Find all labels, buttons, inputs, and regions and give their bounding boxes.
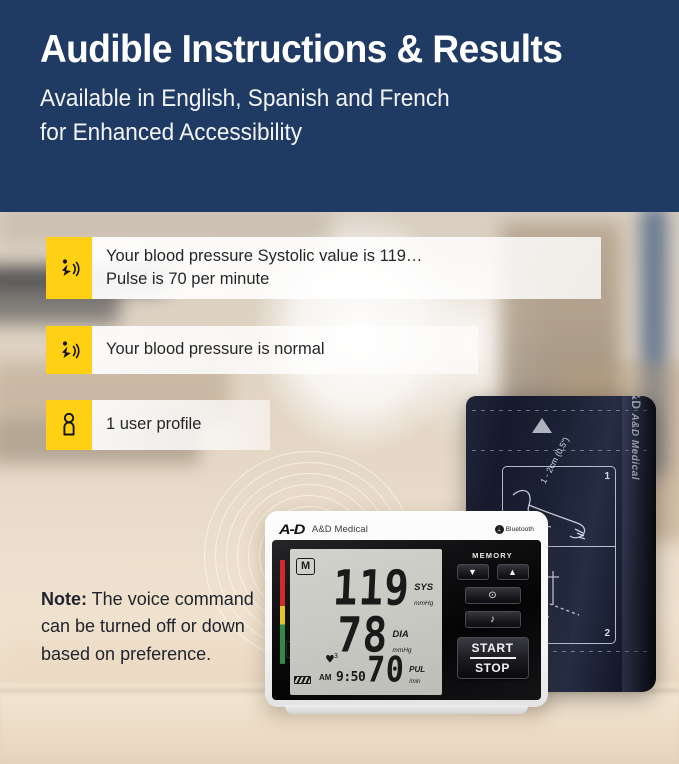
callout-3-line-1: 1 user profile <box>106 413 258 436</box>
user-profile-icon <box>46 400 92 450</box>
callout-1-line-1: Your blood pressure Systolic value is 11… <box>106 245 589 268</box>
clock-icon: ⊙ <box>488 590 496 601</box>
header-banner: Audible Instructions & Results Available… <box>0 0 679 212</box>
bluetooth-icon: ᛦ <box>495 525 504 534</box>
header-subtitle-line-2: for Enhanced Accessibility <box>40 117 641 149</box>
pulse-value: 70 <box>366 657 405 686</box>
clock-button[interactable]: ⊙ <box>465 587 521 604</box>
lcd-display: M 119 SYS mmHg 78 DIA mmHg <box>290 549 442 695</box>
page-title: Audible Instructions & Results <box>40 30 647 69</box>
memory-up-button[interactable]: ▲ <box>497 564 529 580</box>
device-button-panel: MEMORY ▼ ▲ ⊙ ♪ START STOP <box>450 540 541 700</box>
systolic-value: 119 <box>332 569 411 609</box>
pulse-label: PUL <box>409 666 425 674</box>
start-label: START <box>471 641 513 655</box>
bp-classification-bar <box>280 560 285 664</box>
voice-icon: ♪ <box>490 614 495 625</box>
systolic-unit: mmHg <box>414 601 433 608</box>
callout-badge-bp-normal: Your blood pressure is normal <box>46 326 478 374</box>
systolic-reading: 119 SYS mmHg <box>332 575 433 609</box>
battery-icon <box>294 676 311 684</box>
memory-indicator: M <box>296 558 315 575</box>
device-base <box>285 705 528 714</box>
callout-badge-user-profile: 1 user profile <box>46 400 270 450</box>
memory-label: MEMORY <box>454 551 531 560</box>
pulse-unit: /min <box>409 679 425 685</box>
and-logo: A‑D <box>279 521 304 537</box>
note-label: Note: <box>41 589 87 609</box>
voice-button[interactable]: ♪ <box>465 611 521 628</box>
diastolic-label: DIA <box>392 630 411 640</box>
callout-badge-voice-reading: Your blood pressure Systolic value is 11… <box>46 237 601 299</box>
bluetooth-label: Bluetooth <box>506 526 534 533</box>
speaking-head-icon <box>46 237 92 299</box>
artery-marker-triangle <box>532 418 552 433</box>
product-feature-image: Audible Instructions & Results Available… <box>0 0 679 764</box>
memory-down-button[interactable]: ▼ <box>457 564 489 580</box>
bluetooth-badge: ᛦ Bluetooth <box>495 525 534 534</box>
device-brand-bar: A‑D A&D Medical ᛦ Bluetooth <box>272 518 541 540</box>
speaking-head-icon <box>46 326 92 374</box>
start-stop-button[interactable]: START STOP <box>457 637 529 679</box>
pulse-reading: 70 PUL /min <box>366 661 425 686</box>
stop-label: STOP <box>475 661 510 675</box>
callout-2-line-1: Your blood pressure is normal <box>106 338 466 361</box>
device-front-panel: M 119 SYS mmHg 78 DIA mmHg <box>272 540 541 700</box>
lcd-time: 9:50 <box>336 670 365 685</box>
note-text: Note: The voice command can be turned of… <box>41 586 256 668</box>
heartbeat-icon: ♥3 <box>326 653 338 666</box>
systolic-label: SYS <box>414 583 433 593</box>
header-subtitle-line-1: Available in English, Spanish and French <box>40 83 641 115</box>
lcd-meridiem: AM <box>319 673 331 682</box>
heartbeat-count: 3 <box>334 652 338 660</box>
callout-1-line-2: Pulse is 70 per minute <box>106 268 589 291</box>
device-brand-name: A&D Medical <box>312 524 368 535</box>
blood-pressure-monitor: A‑D A&D Medical ᛦ Bluetooth M 119 SYS mm… <box>265 511 548 707</box>
